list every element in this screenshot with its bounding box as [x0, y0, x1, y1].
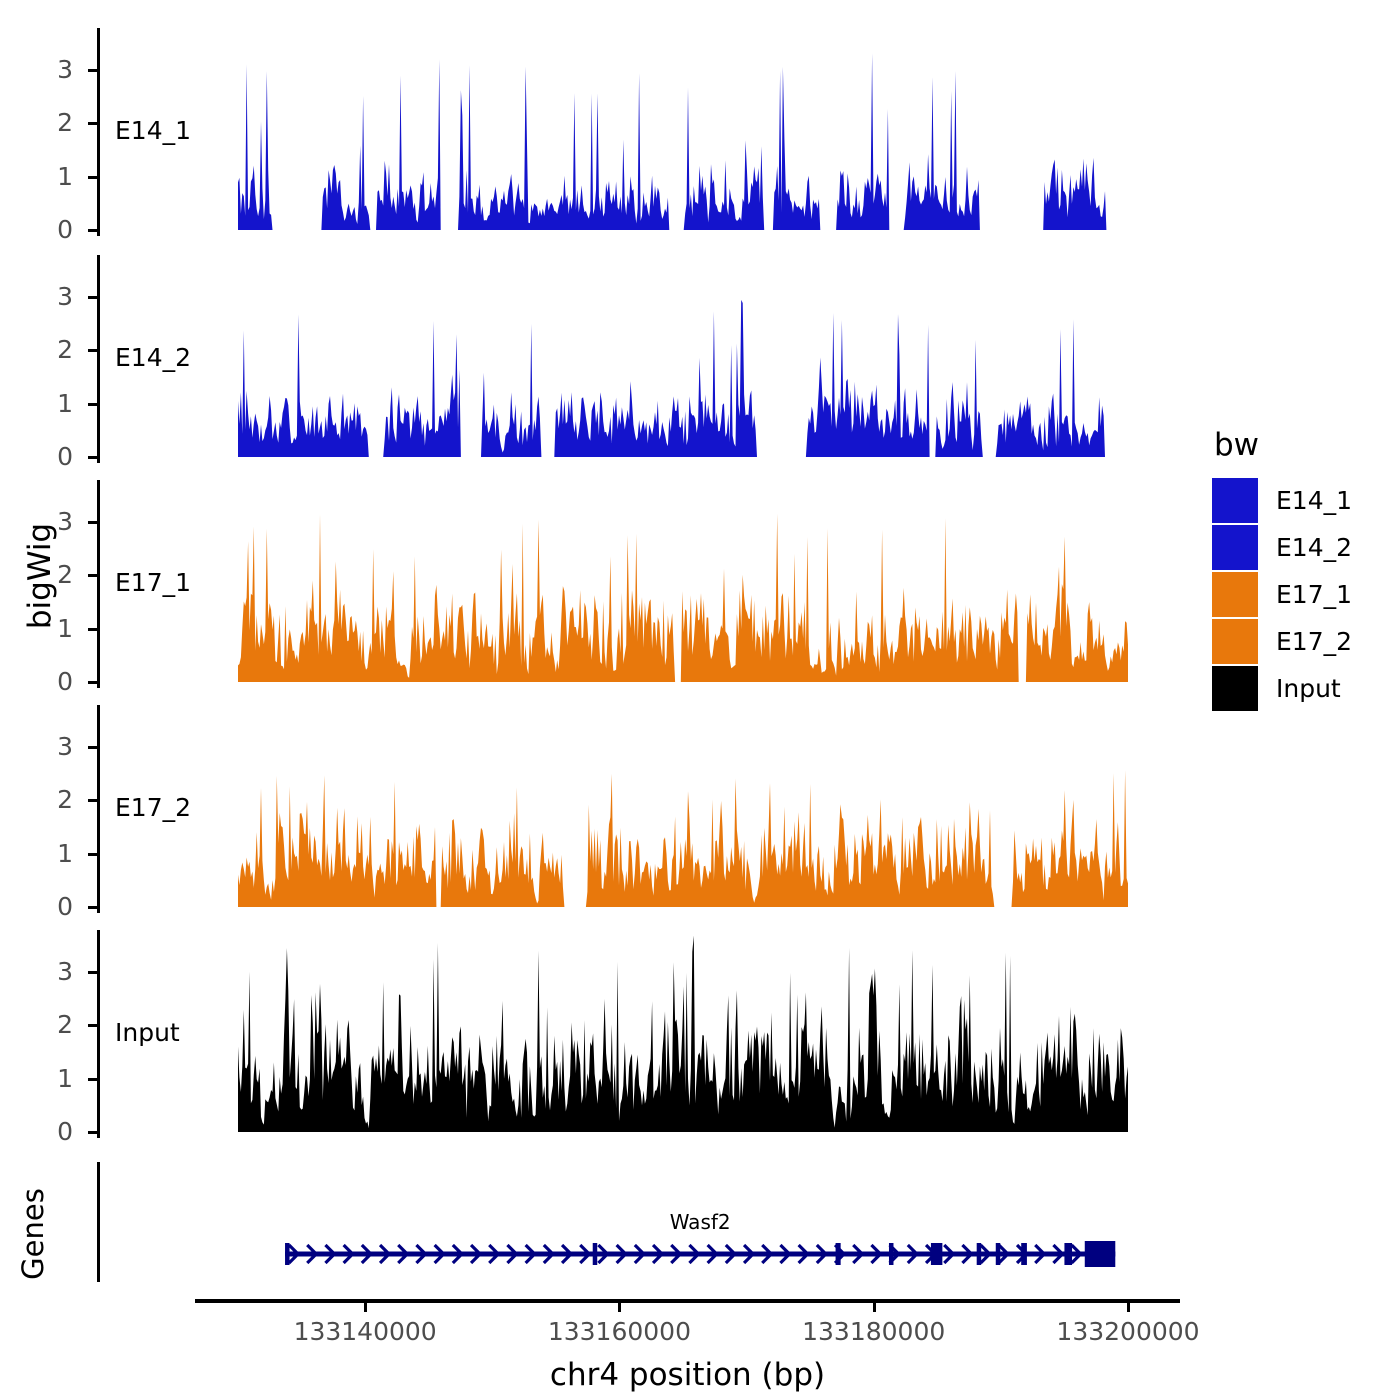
legend: bw E14_1E14_2E17_1E17_2Input	[1212, 430, 1352, 712]
x-axis-line	[195, 1299, 1180, 1303]
y-tick-label: 3	[13, 284, 73, 309]
y-axis-line	[97, 705, 100, 913]
legend-item-label: E17_1	[1276, 580, 1352, 609]
x-tick	[364, 1303, 367, 1312]
x-tick-label: 133160000	[548, 1317, 691, 1346]
y-tick	[88, 349, 97, 352]
x-tick	[873, 1303, 876, 1312]
track-panel-input: 0123Input	[97, 930, 1128, 1138]
y-tick	[88, 1024, 97, 1027]
x-axis-label: chr4 position (bp)	[550, 1357, 825, 1393]
y-tick	[88, 521, 97, 524]
track-label-e17_1: E17_1	[115, 568, 191, 597]
track-label-e14_2: E14_2	[115, 343, 191, 372]
gene-model	[97, 1162, 1128, 1282]
y-tick-label: 1	[13, 164, 73, 189]
gene-track-panel: Wasf2	[97, 1162, 1128, 1282]
y-tick	[88, 296, 97, 299]
y-tick-label: 2	[13, 1012, 73, 1037]
legend-color-swatch	[1212, 478, 1258, 523]
track-label-e17_2: E17_2	[115, 793, 191, 822]
signal-track-e14_2	[238, 255, 1128, 457]
y-axis-line	[97, 930, 100, 1138]
y-tick	[88, 69, 97, 72]
track-panel-e17_2: 0123E17_2	[97, 705, 1128, 913]
y-tick-label: 3	[13, 509, 73, 534]
legend-item-e17_1[interactable]: E17_1	[1212, 571, 1352, 618]
y-tick-label: 1	[13, 1066, 73, 1091]
signal-track-input	[238, 930, 1128, 1132]
y-tick	[88, 122, 97, 125]
y-tick	[88, 176, 97, 179]
y-tick	[88, 746, 97, 749]
y-axis-label-genes: Genes	[15, 1144, 51, 1324]
x-tick	[1127, 1303, 1130, 1312]
track-panel-e17_1: 0123E17_1	[97, 480, 1128, 688]
y-tick-label: 3	[13, 959, 73, 984]
track-panel-e14_2: 0123E14_2	[97, 255, 1128, 463]
y-tick-label: 0	[13, 1119, 73, 1144]
y-tick	[88, 403, 97, 406]
y-tick-label: 0	[13, 444, 73, 469]
legend-item-e14_2[interactable]: E14_2	[1212, 524, 1352, 571]
legend-item-e17_2[interactable]: E17_2	[1212, 618, 1352, 665]
y-tick	[88, 1131, 97, 1134]
y-axis-line	[97, 255, 100, 463]
signal-track-e14_1	[238, 28, 1128, 230]
y-tick	[88, 681, 97, 684]
legend-color-swatch	[1212, 572, 1258, 617]
y-tick-label: 1	[13, 616, 73, 641]
y-tick-label: 3	[13, 57, 73, 82]
y-tick-label: 0	[13, 669, 73, 694]
legend-item-e14_1[interactable]: E14_1	[1212, 477, 1352, 524]
x-tick-label: 133200000	[1056, 1317, 1199, 1346]
legend-item-label: Input	[1276, 674, 1341, 703]
legend-color-swatch	[1212, 666, 1258, 711]
y-tick	[88, 229, 97, 232]
track-panel-e14_1: 0123E14_1	[97, 28, 1128, 236]
y-tick-label: 1	[13, 391, 73, 416]
x-tick	[618, 1303, 621, 1312]
signal-track-e17_2	[238, 705, 1128, 907]
y-tick	[88, 799, 97, 802]
y-axis-line	[97, 480, 100, 688]
legend-item-input[interactable]: Input	[1212, 665, 1352, 712]
y-tick	[88, 853, 97, 856]
y-tick-label: 2	[13, 787, 73, 812]
y-tick-label: 0	[13, 217, 73, 242]
x-tick-label: 133140000	[294, 1317, 437, 1346]
signal-track-e17_1	[238, 480, 1128, 682]
legend-items: E14_1E14_2E17_1E17_2Input	[1212, 477, 1352, 712]
legend-title: bw	[1214, 430, 1352, 461]
y-axis-line	[97, 28, 100, 236]
legend-color-swatch	[1212, 525, 1258, 570]
legend-color-swatch	[1212, 619, 1258, 664]
track-label-input: Input	[115, 1018, 180, 1047]
y-tick	[88, 1078, 97, 1081]
x-tick-label: 133180000	[802, 1317, 945, 1346]
track-label-e14_1: E14_1	[115, 116, 191, 145]
legend-item-label: E17_2	[1276, 627, 1352, 656]
legend-item-label: E14_2	[1276, 533, 1352, 562]
y-tick-label: 1	[13, 841, 73, 866]
y-tick	[88, 906, 97, 909]
y-tick-label: 2	[13, 337, 73, 362]
y-tick-label: 3	[13, 734, 73, 759]
y-tick	[88, 971, 97, 974]
legend-item-label: E14_1	[1276, 486, 1352, 515]
y-tick-label: 2	[13, 562, 73, 587]
y-tick	[88, 574, 97, 577]
y-tick	[88, 456, 97, 459]
y-tick	[88, 628, 97, 631]
y-tick-label: 2	[13, 110, 73, 135]
y-tick-label: 0	[13, 894, 73, 919]
